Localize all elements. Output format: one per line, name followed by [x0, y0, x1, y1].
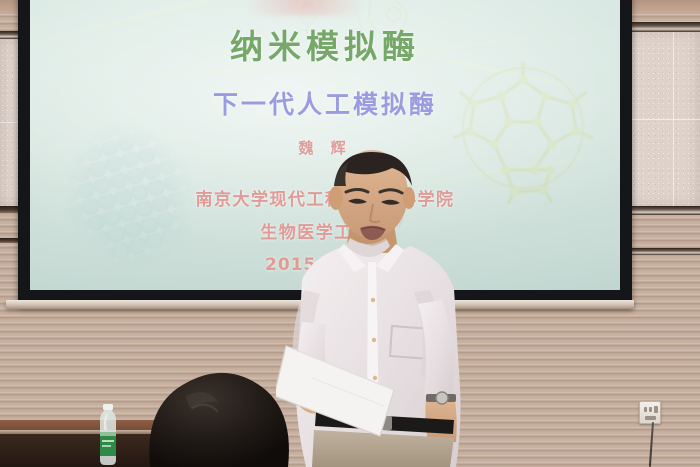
speaker-figure: [276, 150, 492, 467]
lecture-hall-photo: 纳米模拟酶 下一代人工模拟酶 魏 辉 南京大学现代工程与应用科学院 生物医学工程…: [0, 0, 700, 467]
wall-outlet-icon[interactable]: [639, 401, 661, 424]
slide-subtitle: 下一代人工模拟酶: [30, 85, 620, 121]
slide-title: 纳米模拟酶: [30, 20, 620, 68]
audience-member-head: [126, 356, 308, 467]
water-bottle-icon: [95, 404, 121, 467]
